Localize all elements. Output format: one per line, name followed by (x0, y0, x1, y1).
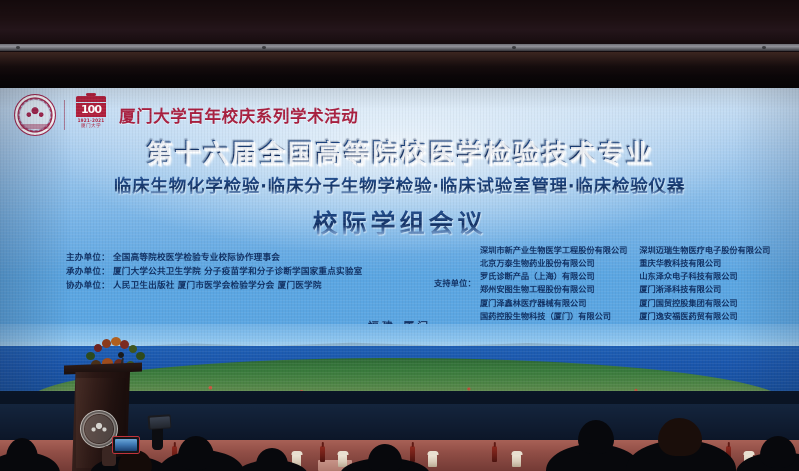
organizer-label: 承办单位： (66, 266, 110, 280)
audience-phone-recording (112, 436, 140, 454)
table-bottle (320, 446, 325, 462)
sponsors-block: 支持单位： 深圳市新产业生物医学工程股份有限公司 北京万泰生物药业股份有限公司 … (434, 244, 770, 323)
organizer-value: 人民卫生出版社 厦门市医学会检验学分会 厦门医学院 (113, 280, 322, 294)
sponsor-item: 深圳市新产业生物医学工程股份有限公司 (480, 244, 627, 257)
phone-screen (149, 416, 170, 428)
audience-head (178, 436, 214, 470)
sponsors-label: 支持单位： (434, 277, 476, 289)
audience-head (658, 418, 702, 456)
ceiling-light-glow (0, 52, 799, 76)
table-bottle (410, 446, 415, 462)
sponsors-column-left: 深圳市新产业生物医学工程股份有限公司 北京万泰生物药业股份有限公司 罗氏诊断产品… (480, 244, 627, 323)
rail-bolt (16, 46, 20, 49)
table-bottle (492, 446, 497, 462)
audience-phone-second (148, 414, 172, 430)
ceiling-dark-area (0, 0, 799, 88)
sponsor-item: 罗氏诊断产品（上海）有限公司 (480, 270, 627, 283)
sponsors-column-right: 深圳迈瑞生物医疗电子股份有限公司 重庆华教科技有限公司 山东泽众电子科技有限公司… (639, 244, 770, 323)
logo-divider (64, 100, 65, 130)
conference-title-block: 第十六届全国高等院校医学检验技术专业 临床生物化学检验·临床分子生物学检验·临床… (0, 140, 799, 240)
sponsor-item: 重庆华教科技有限公司 (639, 257, 770, 270)
seal-emblem (24, 105, 46, 118)
conference-title-subtitle: 临床生物化学检验·临床分子生物学检验·临床试验室管理·临床检验仪器 (0, 173, 799, 198)
organizer-row: 协办单位：人民卫生出版社 厦门市医学会检验学分会 厦门医学院 (66, 280, 362, 294)
conference-title-main: 第十六届全国高等院校医学检验技术专业 (0, 140, 799, 168)
rail-bolt (762, 46, 766, 49)
centennial-roof-shape (76, 96, 106, 102)
rail-bolt (262, 46, 266, 49)
sponsors-columns: 深圳市新产业生物医学工程股份有限公司 北京万泰生物药业股份有限公司 罗氏诊断产品… (480, 244, 770, 323)
sponsor-item: 厦门泽鑫林医疗器械有限公司 (480, 297, 627, 310)
audience-head (760, 436, 796, 468)
table-cup (512, 454, 521, 467)
centennial-number: 100 (76, 103, 106, 117)
audience-head (578, 420, 614, 454)
organizer-value: 厦门大学公共卫生学院 分子疫苗学和分子诊断学国家重点实验室 (113, 266, 362, 280)
centennial-university-name: 厦门大学 (81, 123, 101, 129)
ceiling-metal-rail (0, 44, 799, 51)
sponsor-item: 山东泽众电子科技有限公司 (639, 270, 770, 283)
centennial-banner-text: 厦门大学百年校庆系列学术活动 (119, 103, 358, 127)
organizer-row: 承办单位：厦门大学公共卫生学院 分子疫苗学和分子诊断学国家重点实验室 (66, 266, 362, 280)
centennial-logo-icon: 100 1921-2021 厦门大学 (73, 96, 109, 134)
phone-screen (115, 439, 137, 451)
table-cup (428, 454, 437, 467)
sponsor-item: 厦门国贸控股集团有限公司 (639, 297, 770, 310)
organizer-value: 全国高等院校医学检验专业校际协作理事会 (113, 252, 280, 266)
conference-photo: 100 1921-2021 厦门大学 厦门大学百年校庆系列学术活动 第十六届全国… (0, 0, 799, 471)
sponsor-item: 北京万泰生物药业股份有限公司 (480, 257, 627, 270)
xiamen-university-seal-icon (14, 94, 56, 136)
rail-bolt (512, 46, 516, 49)
sponsor-item: 深圳迈瑞生物医疗电子股份有限公司 (639, 244, 770, 257)
branding-header: 100 1921-2021 厦门大学 厦门大学百年校庆系列学术活动 (14, 94, 358, 136)
organizer-label: 协办单位： (66, 280, 110, 294)
organizer-row: 主办单位：全国高等院校医学检验专业校际协作理事会 (66, 252, 362, 266)
conference-title-third: 校际学组会议 (0, 204, 799, 240)
seal-text-arc (15, 124, 55, 129)
sponsor-item: 郑州安图生物工程股份有限公司 (480, 283, 627, 296)
sponsor-item: 厦门淅泽科技有限公司 (639, 283, 770, 296)
audience-head (6, 438, 38, 471)
organizer-label: 主办单位： (66, 252, 110, 266)
organizers-block: 主办单位：全国高等院校医学检验专业校际协作理事会 承办单位：厦门大学公共卫生学院… (66, 252, 362, 294)
